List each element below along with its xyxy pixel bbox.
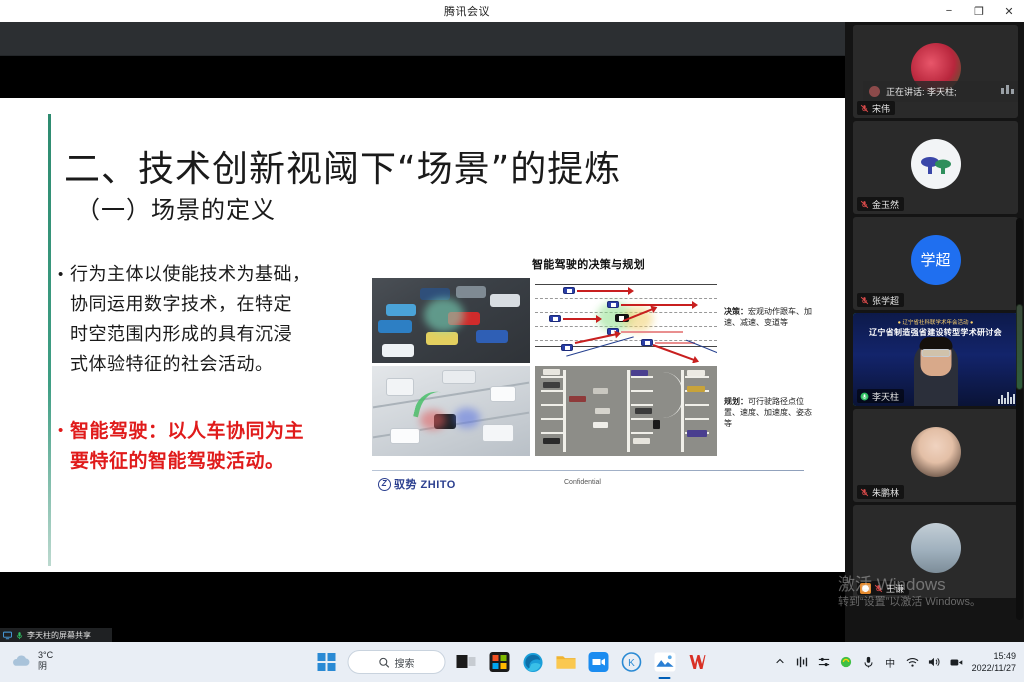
bullet-item-2: • 智能驾驶：以人车协同为主 要特征的智能驾驶活动。 [58, 416, 368, 476]
participant-sidebar[interactable]: 正在讲话: 李天柱; 宋伟 [845, 22, 1024, 650]
search-icon [379, 657, 390, 668]
participant-tile-active[interactable]: ● 辽宁省社科联学术年会活动 ● 辽宁省制造强省建设转型学术研讨会 [853, 313, 1018, 406]
participant-name-chip: 金玉然 [857, 197, 904, 211]
bullet-item-1: • 行为主体以使能技术为基础， 协同运用数字技术，在特定 时空范围内形成的具有沉… [58, 260, 368, 380]
participant-name: 王谦 [886, 582, 904, 595]
kugou-music-icon[interactable]: K [620, 650, 644, 674]
mic-muted-icon [860, 104, 869, 113]
avatar: 学超 [911, 235, 961, 285]
svg-text:K: K [628, 658, 635, 669]
participant-name: 张学超 [872, 294, 899, 307]
participant-name: 朱鹏林 [872, 486, 899, 499]
bullet-dot-icon: • [58, 416, 70, 446]
avatar [911, 139, 961, 189]
participant-tile[interactable]: 王谦 [853, 505, 1018, 598]
participant-tile[interactable]: 学超 张学超 [853, 217, 1018, 310]
figure-divider [372, 470, 804, 471]
mic-muted-icon [860, 296, 869, 305]
slide-figure: 智能驾驶的决策与规划 [372, 256, 804, 506]
figure-label-planning: 规划：可行驶路径点位置、速度、加速度、姿态等 [724, 396, 816, 429]
search-placeholder: 搜索 [395, 655, 415, 670]
monitor-icon [3, 631, 12, 640]
video-person-glasses [921, 349, 950, 357]
volume-icon[interactable] [928, 656, 941, 669]
bullet-text-2: 智能驾驶：以人车协同为主 要特征的智能驾驶活动。 [70, 416, 304, 476]
edge-browser-icon[interactable] [521, 650, 545, 674]
presentation-slide: 二、技术创新视阈下“场景”的提炼 （一）场景的定义 • 行为主体以使能技术为基础… [0, 98, 845, 572]
window-controls: − ❐ ✕ [934, 0, 1024, 22]
minimize-button[interactable]: − [934, 0, 964, 22]
tencent-meeting-icon[interactable] [587, 650, 611, 674]
speaker-avatar-mini [869, 86, 880, 97]
mic-muted-icon [860, 488, 869, 497]
mic-muted-icon [874, 584, 883, 593]
figure-brand-logo: Z 驭势 ZHITO [378, 476, 456, 492]
participant-tile[interactable]: 金玉然 [853, 121, 1018, 214]
host-badge-icon [860, 583, 871, 594]
window-titlebar: 腾讯会议 − ❐ ✕ [0, 0, 1024, 22]
settings-sliders-icon[interactable] [818, 656, 831, 669]
figure-photo-traffic [372, 278, 530, 363]
share-status-label: 李天柱的屏幕共享 [27, 630, 91, 641]
bullet-text-1: 行为主体以使能技术为基础， 协同运用数字技术，在特定 时空范围内形成的具有沉浸 … [70, 260, 311, 380]
windows-taskbar[interactable]: 3°C 阴 搜索 [0, 642, 1024, 682]
active-speaker-banner: 正在讲话: 李天柱; [863, 81, 1018, 102]
sidebar-scrollbar-thumb[interactable] [1016, 304, 1023, 390]
microsoft-store-icon[interactable] [488, 650, 512, 674]
participant-name-chip: 宋伟 [857, 101, 895, 115]
bullet-spacer [58, 380, 368, 416]
audio-waveform-icon [998, 392, 1015, 404]
screen-root: 腾讯会议 − ❐ ✕ 二、技术创新视阈下“场景”的提炼 （一）场景的定义 • 行… [0, 0, 1024, 682]
figure-confidential-label: Confidential [564, 479, 601, 486]
photos-app-icon[interactable] [653, 650, 677, 674]
wps-office-icon[interactable] [686, 650, 710, 674]
mic-active-icon [860, 392, 869, 401]
avatar [911, 523, 961, 573]
participant-tile[interactable]: 正在讲话: 李天柱; 宋伟 [853, 25, 1018, 118]
slide-title: 二、技术创新视阈下“场景”的提炼 [64, 140, 621, 192]
maximize-button[interactable]: ❐ [964, 0, 994, 22]
participant-name-chip: 王谦 [857, 581, 909, 595]
ime-indicator[interactable]: 中 [884, 656, 897, 669]
close-button[interactable]: ✕ [994, 0, 1024, 22]
screen-share-status[interactable]: 李天柱的屏幕共享 [0, 628, 112, 642]
bullet-dot-icon: • [58, 260, 70, 290]
participant-name: 李天柱 [872, 390, 899, 403]
slide-accent-bar [48, 114, 51, 566]
mushroom-avatar-icon [915, 143, 957, 185]
cloud-icon [10, 653, 32, 669]
avatar [911, 427, 961, 477]
clock-time: 15:49 [972, 650, 1016, 662]
wifi-icon[interactable] [906, 656, 919, 669]
participant-name: 宋伟 [872, 102, 890, 115]
participant-name-chip: 张学超 [857, 293, 904, 307]
taskbar-clock[interactable]: 15:49 2022/11/27 [972, 650, 1016, 674]
video-banner-top: ● 辽宁省社科联学术年会活动 ● [853, 318, 1018, 326]
figure-title: 智能驾驶的决策与规划 [532, 256, 645, 272]
file-explorer-icon[interactable] [554, 650, 578, 674]
search-box[interactable]: 搜索 [348, 650, 446, 674]
tray-expand-icon[interactable] [774, 656, 787, 669]
slide-subtitle: （一）场景的定义 [76, 190, 276, 225]
participant-name-chip: 朱鹏林 [857, 485, 904, 499]
avatar-initials: 学超 [920, 249, 950, 270]
sidebar-scrollbar-track[interactable] [1016, 218, 1023, 620]
figure-logo-text: 驭势 ZHITO [394, 476, 456, 492]
equalizer-icon[interactable] [796, 656, 809, 669]
weather-condition: 阴 [38, 661, 53, 672]
microphone-icon[interactable] [862, 656, 875, 669]
slide-bullets: • 行为主体以使能技术为基础， 协同运用数字技术，在特定 时空范围内形成的具有沉… [58, 260, 368, 476]
shared-screen-area: 二、技术创新视阈下“场景”的提炼 （一）场景的定义 • 行为主体以使能技术为基础… [0, 56, 845, 628]
weather-widget[interactable]: 3°C 阴 [10, 650, 53, 672]
start-button[interactable] [315, 650, 339, 674]
mic-muted-icon [860, 200, 869, 209]
figure-parking-plan [535, 366, 717, 456]
clock-date: 2022/11/27 [972, 662, 1016, 674]
figure-photo-lanechange [372, 366, 530, 456]
zhito-logo-icon: Z [378, 478, 391, 491]
system-tray: 中 15:49 [774, 642, 1016, 682]
mic-icon [15, 631, 24, 640]
audio-level-icon [1001, 85, 1014, 94]
weather-temperature: 3°C [38, 650, 53, 661]
participant-name-chip: 李天柱 [857, 389, 904, 403]
participant-tile[interactable]: 朱鹏林 [853, 409, 1018, 502]
figure-decision-diagram [535, 278, 717, 363]
sogou-input-icon[interactable] [840, 656, 853, 669]
meeting-toolbar[interactable] [0, 22, 845, 56]
task-view-button[interactable] [455, 650, 479, 674]
taskbar-icons: 搜索 [315, 650, 710, 674]
active-speaker-text: 正在讲话: 李天柱; [886, 85, 957, 98]
figure-label-decision: 决策：宏观动作跟车、加速、减速、变道等 [724, 306, 816, 328]
camera-icon[interactable] [950, 656, 963, 669]
window-title: 腾讯会议 [0, 3, 934, 19]
participant-name: 金玉然 [872, 198, 899, 211]
